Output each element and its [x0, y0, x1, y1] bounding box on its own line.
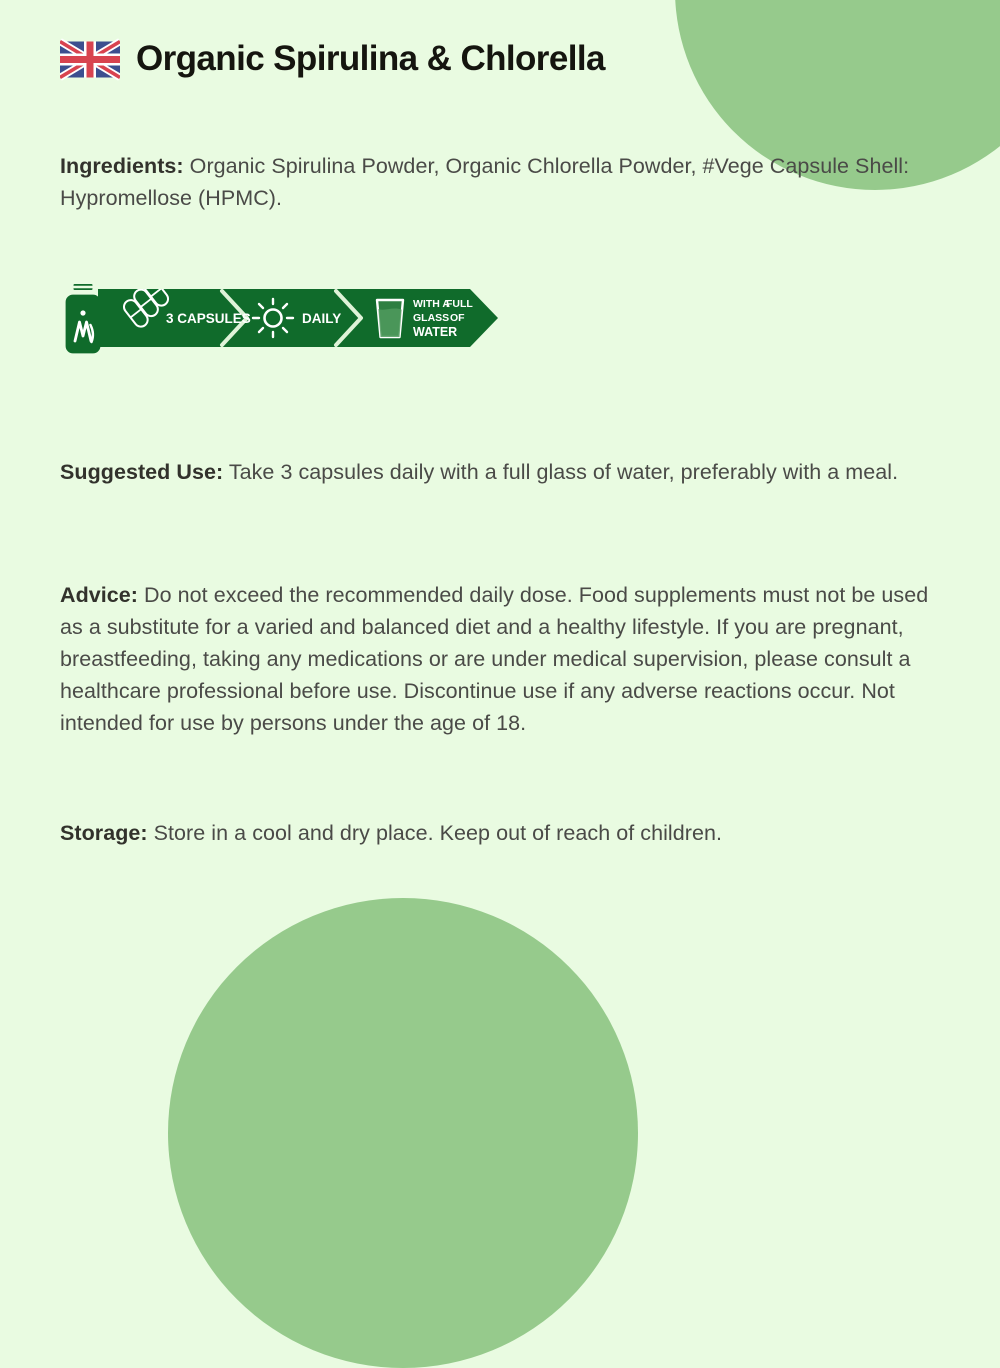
water-label-line1-bold: FULL	[446, 298, 473, 310]
storage-label: Storage:	[60, 821, 148, 845]
suggested-use-text: Take 3 capsules daily with a full glass …	[229, 460, 898, 484]
ingredients-label: Ingredients:	[60, 154, 184, 178]
water-label-line2-bold: GLASS	[413, 312, 449, 324]
ingredients-text: Organic Spirulina Powder, Organic Chlore…	[60, 154, 909, 210]
water-label-line1-normal: WITH A	[413, 298, 450, 310]
advice-label: Advice:	[60, 583, 138, 607]
storage-section: Storage: Store in a cool and dry place. …	[60, 818, 940, 850]
uk-flag-icon	[60, 38, 120, 81]
label-page: Organic Spirulina & Chlorella Ingredient…	[0, 0, 1000, 1000]
segment-label-capsules: 3 CAPSULES	[166, 311, 251, 326]
dosage-chevron-strip: 3 CAPSULES DAILY	[98, 289, 498, 347]
suggested-use-section: Suggested Use: Take 3 capsules daily wit…	[60, 457, 940, 489]
suggested-use-label: Suggested Use:	[60, 460, 223, 484]
ingredients-section: Ingredients: Organic Spirulina Powder, O…	[60, 151, 940, 215]
page-header: Organic Spirulina & Chlorella	[60, 0, 940, 81]
dosage-instruction-banner: 3 CAPSULES DAILY	[60, 279, 500, 357]
page-title: Organic Spirulina & Chlorella	[136, 40, 605, 79]
advice-section: Advice: Do not exceed the recommended da…	[60, 580, 940, 739]
advice-text: Do not exceed the recommended daily dose…	[60, 583, 928, 734]
storage-text: Store in a cool and dry place. Keep out …	[154, 821, 722, 845]
water-label-line2-normal: OF	[450, 312, 465, 324]
water-label-line3-bold: WATER	[413, 325, 457, 339]
segment-label-daily: DAILY	[302, 311, 341, 326]
water-glass-icon	[377, 300, 403, 337]
